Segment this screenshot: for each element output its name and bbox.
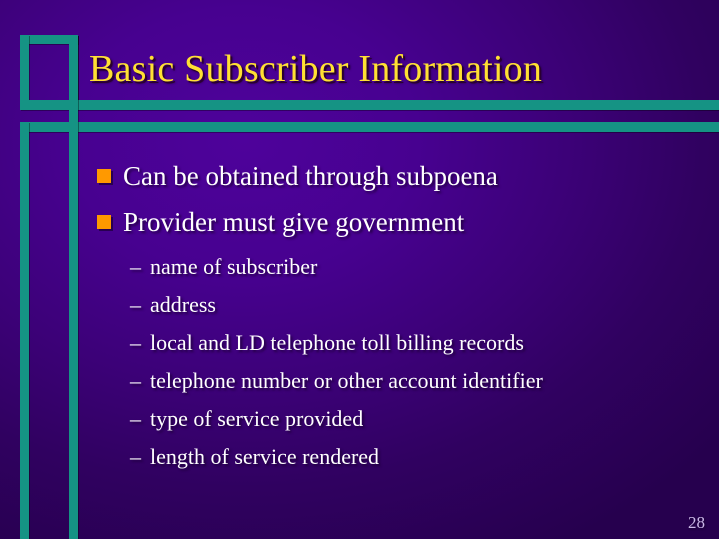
dash-bullet-icon: – (130, 404, 150, 434)
bullet-label: Provider must give government (123, 206, 464, 239)
dash-bullet-icon: – (130, 252, 150, 282)
sub-bullet-label: name of subscriber (150, 252, 317, 282)
bullet-item: Can be obtained through subpoena (0, 160, 719, 193)
bullet-item: Provider must give government (0, 206, 719, 239)
dash-bullet-icon: – (130, 328, 150, 358)
sub-bullet-item: – name of subscriber (0, 252, 719, 282)
sub-bullet-label: length of service rendered (150, 442, 379, 472)
slide-title: Basic Subscriber Information (89, 46, 709, 92)
dash-bullet-icon: – (130, 366, 150, 396)
square-bullet-icon (97, 169, 111, 183)
presentation-slide: Basic Subscriber Information Can be obta… (0, 0, 719, 539)
sub-bullet-item: – length of service rendered (0, 442, 719, 472)
sub-bullet-item: – type of service provided (0, 404, 719, 434)
decor-square-left-edge (20, 35, 29, 109)
decor-horizontal-rule-bottom (20, 122, 719, 132)
slide-page-number: 28 (688, 513, 705, 533)
sub-bullet-label: telephone number or other account identi… (150, 366, 543, 396)
slide-body: Can be obtained through subpoena Provide… (0, 160, 719, 480)
sub-bullet-label: type of service provided (150, 404, 363, 434)
decor-horizontal-rule-top (20, 100, 719, 110)
bullet-label: Can be obtained through subpoena (123, 160, 498, 193)
sub-bullet-item: – address (0, 290, 719, 320)
sub-bullet-label: address (150, 290, 216, 320)
sub-bullet-label: local and LD telephone toll billing reco… (150, 328, 524, 358)
dash-bullet-icon: – (130, 442, 150, 472)
sub-bullet-item: – local and LD telephone toll billing re… (0, 328, 719, 358)
sub-bullet-item: – telephone number or other account iden… (0, 366, 719, 396)
square-bullet-icon (97, 215, 111, 229)
dash-bullet-icon: – (130, 290, 150, 320)
